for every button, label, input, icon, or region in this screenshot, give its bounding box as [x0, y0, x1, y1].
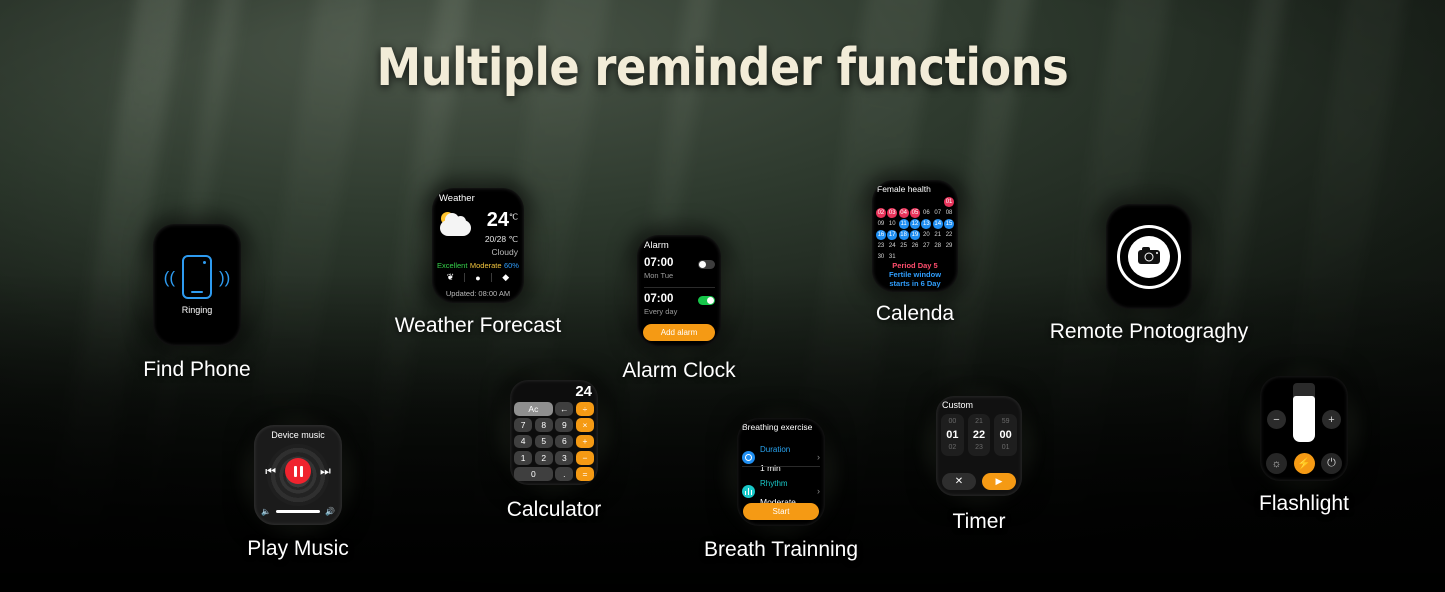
- calculator-key[interactable]: 7: [514, 418, 532, 432]
- calculator-key[interactable]: 8: [535, 418, 553, 432]
- air-quality-value: Excellent: [437, 261, 467, 270]
- sun-icon: ●: [465, 273, 492, 283]
- feature-calculator[interactable]: 24 Ac←÷789×456+123−0.= Calculator: [510, 380, 598, 485]
- calculator-key[interactable]: Ac: [514, 402, 553, 416]
- promo-banner: Multiple reminder functions (( )) Ringin…: [0, 0, 1445, 592]
- decrease-brightness-button[interactable]: −: [1267, 410, 1286, 429]
- calendar-day[interactable]: 04: [899, 208, 909, 218]
- caption-remote-photography: Remote Pnotograghy: [1050, 320, 1248, 344]
- calendar-day[interactable]: 13: [921, 219, 931, 229]
- calendar-day[interactable]: 08: [944, 208, 954, 218]
- feature-find-phone[interactable]: (( )) Ringing Find Phone: [153, 224, 241, 346]
- calendar-day[interactable]: 29: [944, 241, 954, 251]
- pause-button[interactable]: [285, 458, 311, 484]
- ringing-phone-graphic: (( )): [164, 255, 231, 299]
- shutter-ring[interactable]: [1117, 225, 1181, 289]
- calculator-key[interactable]: 5: [535, 435, 553, 449]
- hours-above: 00: [941, 417, 964, 428]
- feature-flashlight[interactable]: − + ☼ ⚡ ⏻ Flashlight: [1260, 376, 1348, 481]
- calendar-day[interactable]: 10: [887, 219, 897, 229]
- strobe-bolt-icon[interactable]: ⚡: [1294, 453, 1315, 474]
- calendar-day[interactable]: 25: [899, 241, 909, 251]
- calendar-day[interactable]: 07: [933, 208, 943, 218]
- cancel-timer-button[interactable]: ✕: [942, 473, 976, 490]
- alarm-toggle-1[interactable]: [698, 260, 715, 269]
- calculator-key[interactable]: =: [576, 467, 594, 481]
- brightness-mode-icon[interactable]: ☼: [1266, 453, 1287, 474]
- hours-below: 02: [941, 443, 964, 454]
- sound-wave-left-icon: ((: [164, 269, 175, 286]
- humidity-value: 60%: [504, 261, 519, 270]
- calendar-day[interactable]: 23: [876, 241, 886, 251]
- weather-updated-time: Updated: 08:00 AM: [432, 289, 524, 298]
- minutes-value: 22: [968, 428, 991, 443]
- calculator-key[interactable]: ÷: [576, 402, 594, 416]
- timer-seconds-spinner[interactable]: 59 00 01: [994, 414, 1017, 456]
- leaf-icon: ❦: [437, 272, 464, 283]
- start-breathing-button[interactable]: Start: [743, 503, 819, 520]
- alarm-title: Alarm: [644, 240, 669, 251]
- calendar-day[interactable]: 14: [933, 219, 943, 229]
- minutes-below: 23: [968, 443, 991, 454]
- calculator-key[interactable]: 1: [514, 451, 532, 465]
- calculator-key[interactable]: −: [576, 451, 594, 465]
- music-source-title: Device music: [254, 430, 342, 440]
- next-track-icon[interactable]: ⏭: [320, 465, 331, 477]
- watch-screen-timer: Custom 00 01 02 21 22 23 59 00 01: [936, 396, 1022, 496]
- calculator-key[interactable]: .: [555, 467, 573, 481]
- calendar-day[interactable]: 05: [910, 208, 920, 218]
- hours-value: 01: [941, 428, 964, 443]
- caption-play-music: Play Music: [247, 537, 349, 561]
- volume-low-icon: 🔈: [261, 507, 271, 516]
- calculator-display: 24: [575, 383, 592, 400]
- calendar-day[interactable]: 18: [899, 230, 909, 240]
- calculator-key[interactable]: ×: [576, 418, 594, 432]
- duration-label: Duration: [760, 445, 790, 454]
- watch-screen-flashlight: − + ☼ ⚡ ⏻: [1260, 376, 1348, 481]
- caption-flashlight: Flashlight: [1259, 492, 1349, 516]
- calendar-day[interactable]: 16: [876, 230, 886, 240]
- calendar-day[interactable]: 03: [887, 208, 897, 218]
- calendar-day[interactable]: 09: [876, 219, 886, 229]
- phone-icon: [182, 255, 212, 299]
- calendar-day[interactable]: 15: [944, 219, 954, 229]
- calculator-key[interactable]: 9: [555, 418, 573, 432]
- calculator-key[interactable]: 2: [535, 451, 553, 465]
- temperature-unit: ℃: [509, 213, 518, 222]
- watch-screen-female-health: Female health 01020304050607080910111213…: [872, 180, 958, 292]
- rhythm-bars-icon: [742, 485, 755, 498]
- feature-remote-photography[interactable]: Remote Pnotograghy: [1106, 204, 1192, 309]
- breathing-title: Breathing exercise: [742, 422, 812, 432]
- seconds-above: 59: [994, 417, 1017, 428]
- page-title: Multiple reminder functions: [101, 38, 1344, 98]
- caption-timer: Timer: [953, 510, 1006, 534]
- feature-timer[interactable]: Custom 00 01 02 21 22 23 59 00 01: [936, 396, 1022, 496]
- calculator-key[interactable]: ←: [555, 402, 573, 416]
- calculator-key[interactable]: +: [576, 435, 594, 449]
- uv-index-value: Moderate: [470, 261, 502, 270]
- weather-condition: Cloudy: [485, 247, 518, 257]
- weather-stats-row: Excellent Moderate 60%: [437, 261, 519, 270]
- alarm-days-2: Every day: [644, 307, 715, 316]
- current-temperature: 24: [487, 209, 509, 231]
- calculator-keypad[interactable]: Ac←÷789×456+123−0.=: [514, 402, 594, 481]
- calculator-key[interactable]: 6: [555, 435, 573, 449]
- seconds-below: 01: [994, 443, 1017, 454]
- camera-icon: [1138, 250, 1160, 264]
- minutes-above: 21: [968, 417, 991, 428]
- caption-weather-forecast: Weather Forecast: [395, 314, 562, 338]
- rhythm-label: Rhythm: [760, 479, 788, 488]
- seconds-value: 00: [994, 428, 1017, 443]
- add-alarm-button[interactable]: Add alarm: [643, 324, 715, 341]
- timer-minutes-spinner[interactable]: 21 22 23: [968, 414, 991, 456]
- calendar-day[interactable]: 17: [887, 230, 897, 240]
- calendar-day[interactable]: 11: [899, 219, 909, 229]
- weather-stat-icons: ❦ ● ◆: [437, 272, 519, 283]
- timer-title: Custom: [942, 400, 973, 410]
- watch-screen-breathing: Breathing exercise Duration 1 min › Rhyt…: [737, 418, 825, 526]
- ringing-status: Ringing: [182, 305, 213, 315]
- power-icon[interactable]: ⏻: [1321, 453, 1342, 474]
- calendar-day[interactable]: 22: [944, 230, 954, 240]
- flashlight-cap: [1293, 383, 1315, 397]
- fertile-window-text-2: starts in 6 Day: [872, 280, 958, 289]
- alarm-days-1: Mon Tue: [644, 271, 715, 280]
- feature-weather-forecast[interactable]: Weather 24℃ 20/28 ℃ Cloudy Excellent Mod…: [432, 188, 524, 303]
- volume-high-icon: 🔊: [325, 507, 335, 516]
- feature-breath-training[interactable]: Breathing exercise Duration 1 min › Rhyt…: [737, 418, 825, 526]
- calculator-key[interactable]: 0: [514, 467, 553, 481]
- calendar-day[interactable]: 30: [876, 252, 886, 262]
- calendar-day[interactable]: 12: [910, 219, 920, 229]
- calculator-key[interactable]: 3: [555, 451, 573, 465]
- watch-screen-camera: [1106, 204, 1192, 309]
- sound-wave-right-icon: )): [219, 269, 230, 286]
- temperature-range: 20/28 ℃: [485, 234, 518, 245]
- watch-screen-calculator: 24 Ac←÷789×456+123−0.=: [510, 380, 598, 485]
- cycle-calendar-grid[interactable]: 0102030405060708091011121314151617181920…: [876, 197, 954, 262]
- alarm-row-1[interactable]: 07:00 Mon Tue: [644, 257, 715, 280]
- previous-track-icon[interactable]: ⏮: [265, 465, 276, 477]
- caption-calendar: Calenda: [876, 302, 954, 326]
- increase-brightness-button[interactable]: +: [1322, 410, 1341, 429]
- watch-screen-alarm: Alarm 07:00 Mon Tue 07:00 Every day Add …: [637, 235, 721, 347]
- cycle-status-messages: Period Day 5 Fertile window starts in 6 …: [872, 262, 958, 289]
- weather-title: Weather: [439, 193, 475, 204]
- duration-row[interactable]: Duration 1 min ›: [742, 438, 820, 476]
- feature-calendar[interactable]: Female health 01020304050607080910111213…: [872, 180, 958, 292]
- alarm-toggle-2[interactable]: [698, 296, 715, 305]
- calendar-day[interactable]: 02: [876, 208, 886, 218]
- caption-calculator: Calculator: [507, 498, 602, 522]
- chevron-right-icon-duration: ›: [817, 452, 820, 462]
- caption-find-phone: Find Phone: [143, 358, 250, 382]
- watch-screen-weather: Weather 24℃ 20/28 ℃ Cloudy Excellent Mod…: [432, 188, 524, 303]
- calendar-day[interactable]: 27: [921, 241, 931, 251]
- clock-icon: [742, 451, 755, 464]
- calendar-day[interactable]: 20: [921, 230, 931, 240]
- calendar-day[interactable]: 19: [910, 230, 920, 240]
- feature-play-music[interactable]: Device music ⏮ ⏭ 🔈 🔊 Play Music: [254, 425, 342, 525]
- alarm-row-2[interactable]: 07:00 Every day: [644, 293, 715, 316]
- caption-breath-training: Breath Trainning: [704, 538, 858, 562]
- chevron-right-icon-rhythm: ›: [817, 486, 820, 496]
- timer-hours-spinner[interactable]: 00 01 02: [941, 414, 964, 456]
- calendar-day[interactable]: 26: [910, 241, 920, 251]
- calendar-day[interactable]: 01: [944, 197, 954, 207]
- start-timer-button[interactable]: ▶: [982, 473, 1016, 490]
- watch-screen-music: Device music ⏮ ⏭ 🔈 🔊: [254, 425, 342, 525]
- calendar-day[interactable]: 21: [933, 230, 943, 240]
- calendar-day[interactable]: 31: [887, 252, 897, 262]
- female-health-title: Female health: [877, 184, 931, 194]
- volume-slider[interactable]: 🔈 🔊: [261, 507, 335, 516]
- feature-alarm-clock[interactable]: Alarm 07:00 Mon Tue 07:00 Every day Add …: [637, 235, 721, 347]
- calendar-day[interactable]: 06: [921, 208, 931, 218]
- sun-cloud-icon: [439, 212, 473, 238]
- brightness-bar[interactable]: [1293, 396, 1315, 442]
- calendar-day[interactable]: 24: [887, 241, 897, 251]
- calendar-day[interactable]: 28: [933, 241, 943, 251]
- watch-screen-find-phone: (( )) Ringing: [153, 224, 241, 346]
- droplet-icon: ◆: [492, 272, 519, 283]
- caption-alarm-clock: Alarm Clock: [622, 359, 735, 383]
- calculator-key[interactable]: 4: [514, 435, 532, 449]
